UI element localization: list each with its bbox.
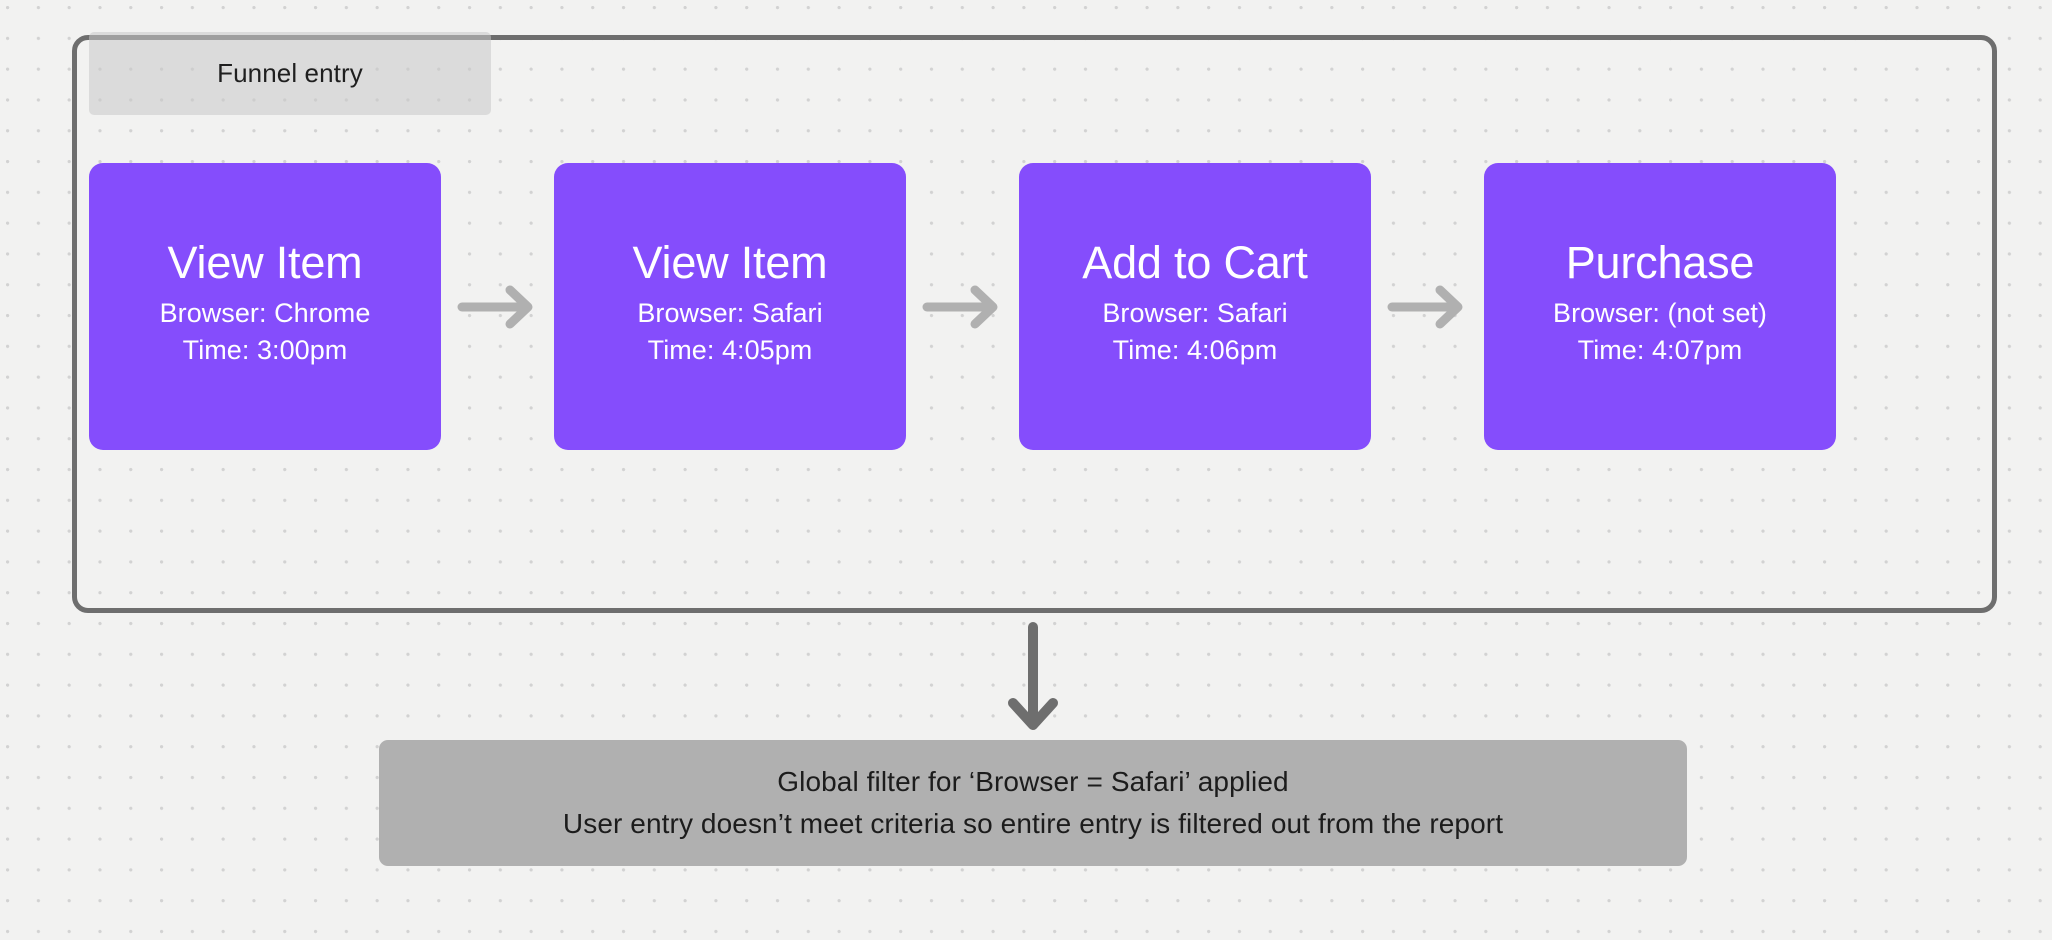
arrow-right-icon-2 [906,163,1019,450]
step-title: Add to Cart [1082,240,1307,287]
funnel-step-card-4[interactable]: Purchase Browser: (not set) Time: 4:07pm [1484,163,1836,450]
step-time: Time: 4:06pm [1113,332,1278,369]
arrow-right-icon-1 [441,163,554,450]
step-title: Purchase [1566,240,1755,287]
filter-note-box: Global filter for ‘Browser = Safari’ app… [379,740,1687,866]
funnel-entry-label: Funnel entry [89,32,491,115]
arrow-right-icon-3 [1371,163,1484,450]
funnel-steps-row: View Item Browser: Chrome Time: 3:00pm V… [89,163,1836,450]
step-browser: Browser: (not set) [1553,295,1767,332]
step-browser: Browser: Safari [637,295,822,332]
step-title: View Item [168,240,363,287]
step-title: View Item [633,240,828,287]
step-time: Time: 3:00pm [183,332,348,369]
funnel-step-card-3[interactable]: Add to Cart Browser: Safari Time: 4:06pm [1019,163,1371,450]
funnel-step-card-2[interactable]: View Item Browser: Safari Time: 4:05pm [554,163,906,450]
step-time: Time: 4:05pm [648,332,813,369]
step-browser: Browser: Chrome [160,295,371,332]
arrow-down-icon [1003,621,1063,734]
funnel-step-card-1[interactable]: View Item Browser: Chrome Time: 3:00pm [89,163,441,450]
funnel-entry-label-text: Funnel entry [217,58,363,89]
filter-note-line-1: Global filter for ‘Browser = Safari’ app… [777,764,1288,800]
step-time: Time: 4:07pm [1578,332,1743,369]
step-browser: Browser: Safari [1102,295,1287,332]
filter-note-line-2: User entry doesn’t meet criteria so enti… [563,806,1503,842]
